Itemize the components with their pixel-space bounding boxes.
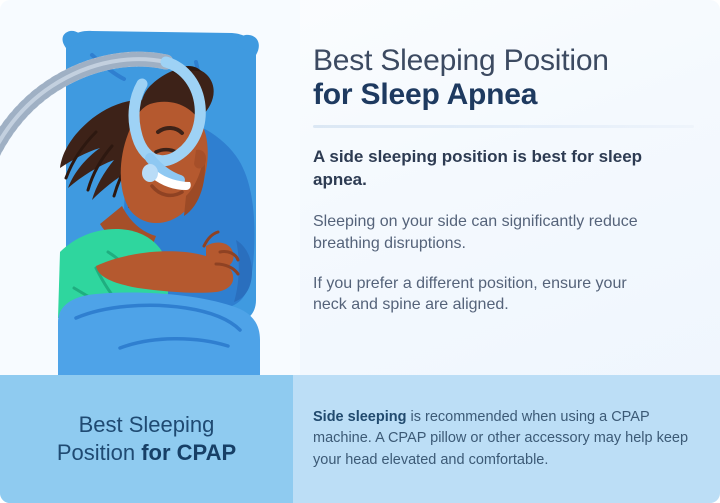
infographic-card: Best Sleeping Position for Sleep Apnea A… xyxy=(0,0,720,503)
cpap-banner: Best Sleeping Position for CPAP Side sle… xyxy=(0,375,720,503)
banner-heading-line-1: Best Sleeping xyxy=(79,412,215,437)
title-divider xyxy=(313,125,694,128)
lede-text: A side sleeping position is best for sle… xyxy=(313,146,653,192)
paragraph-2: If you prefer a different position, ensu… xyxy=(313,273,663,316)
banner-heading-line-2-normal: Position xyxy=(57,440,141,465)
banner-body-strong: Side sleeping xyxy=(313,409,406,425)
banner-body-panel: Side sleeping is recommended when using … xyxy=(293,375,720,503)
banner-heading: Best Sleeping Position for CPAP xyxy=(57,411,236,467)
paragraph-1: Sleeping on your side can significantly … xyxy=(313,211,663,254)
sleeping-person-cpap-illustration xyxy=(0,0,300,375)
banner-heading-panel: Best Sleeping Position for CPAP xyxy=(0,375,293,503)
mask-connector xyxy=(142,164,158,182)
banner-body: Side sleeping is recommended when using … xyxy=(313,407,692,471)
title-line-1: Best Sleeping Position xyxy=(313,44,609,77)
page-title: Best Sleeping Position for Sleep Apnea xyxy=(313,44,694,112)
text-pane: Best Sleeping Position for Sleep Apnea A… xyxy=(300,0,720,375)
top-section: Best Sleeping Position for Sleep Apnea A… xyxy=(0,0,720,375)
illustration-pane xyxy=(0,0,300,375)
banner-heading-line-2-strong: for CPAP xyxy=(141,440,236,465)
title-line-2: for Sleep Apnea xyxy=(313,78,694,112)
